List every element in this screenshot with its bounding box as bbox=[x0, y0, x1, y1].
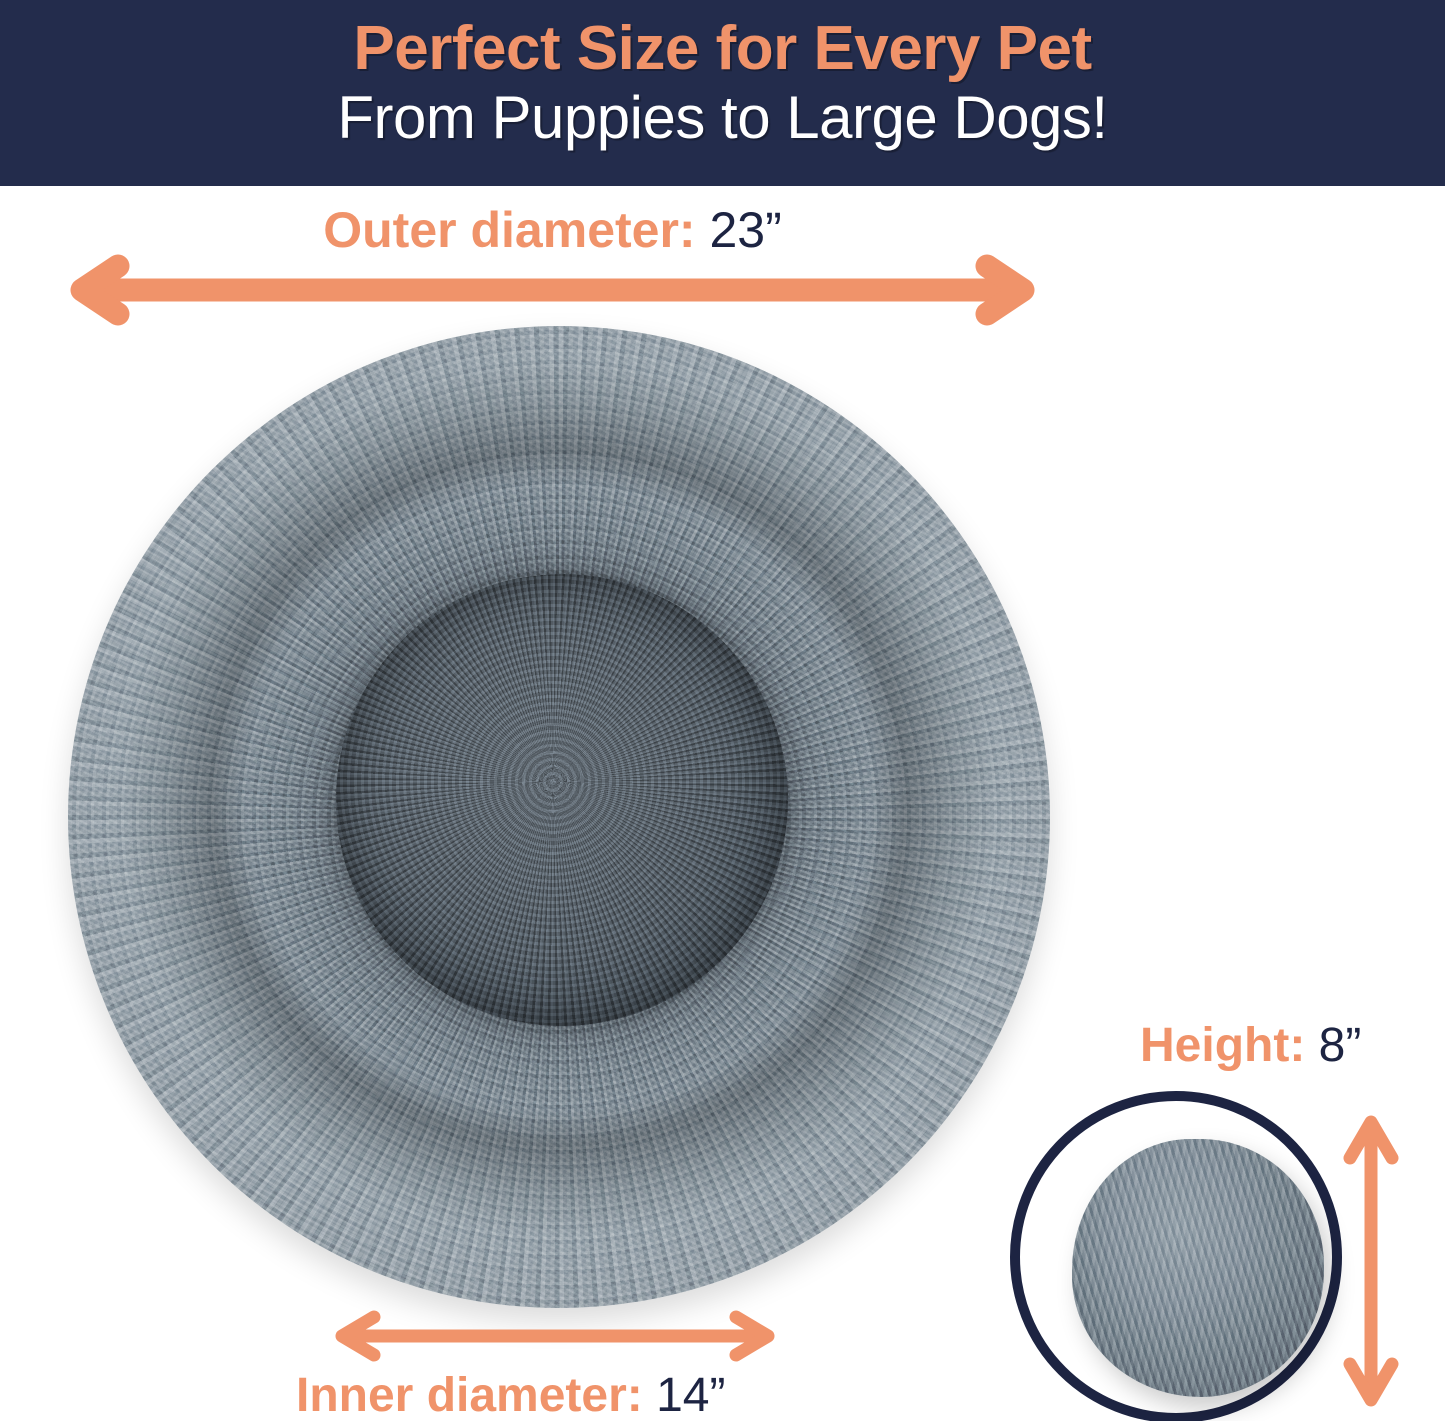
infographic-page: Perfect Size for Every Pet From Puppies … bbox=[0, 0, 1445, 1421]
bed-side-view-inset bbox=[1010, 1091, 1342, 1421]
header-banner: Perfect Size for Every Pet From Puppies … bbox=[0, 0, 1445, 186]
outer-diameter-value: 23” bbox=[709, 202, 781, 258]
inner-diameter-label-text: Inner diameter: bbox=[296, 1369, 643, 1421]
inner-diameter-arrow-icon bbox=[330, 1312, 780, 1360]
bed-inner-fur-texture bbox=[336, 574, 788, 1026]
height-value: 8” bbox=[1319, 1019, 1362, 1072]
outer-diameter-arrow-icon bbox=[60, 258, 1045, 322]
height-label-text: Height: bbox=[1140, 1019, 1305, 1072]
outer-diameter-label: Outer diameter: 23” bbox=[0, 205, 1105, 255]
height-arrow-icon bbox=[1338, 1110, 1404, 1412]
bed-side-view bbox=[1072, 1139, 1324, 1397]
outer-diameter-label-text: Outer diameter: bbox=[323, 202, 695, 258]
inner-diameter-label: Inner diameter: 14” bbox=[296, 1372, 725, 1420]
bed-inner-cushion bbox=[336, 574, 788, 1026]
inner-diameter-value: 14” bbox=[656, 1369, 725, 1421]
height-label: Height: 8” bbox=[1140, 1022, 1361, 1070]
page-title: Perfect Size for Every Pet bbox=[0, 18, 1445, 80]
page-subtitle: From Puppies to Large Dogs! bbox=[0, 88, 1445, 148]
main-bed-top-view bbox=[68, 326, 1050, 1308]
bed-side-fur-texture bbox=[1072, 1139, 1324, 1397]
